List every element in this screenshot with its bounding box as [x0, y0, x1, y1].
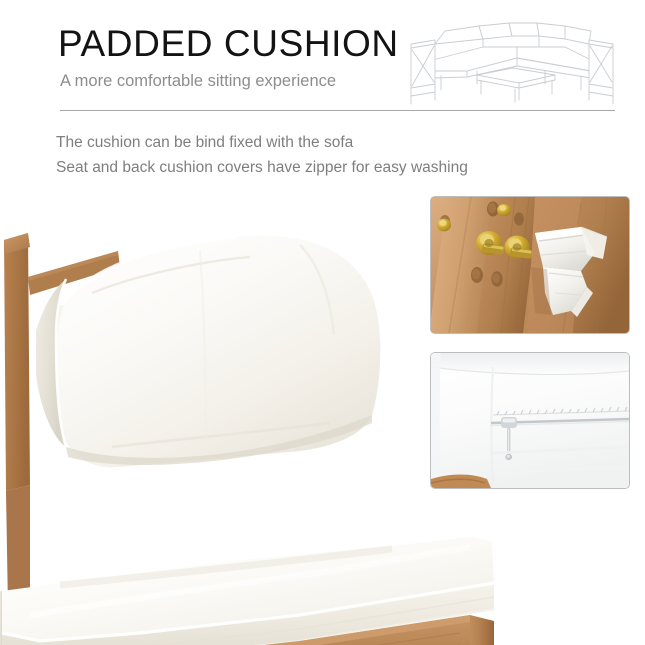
page-title: PADDED CUSHION: [58, 22, 399, 66]
brass-bolt: [497, 204, 511, 216]
feature-list: The cushion can be bind fixed with the s…: [56, 130, 576, 180]
page-subtitle: A more comfortable sitting experience: [60, 70, 336, 92]
header-divider: [60, 110, 615, 111]
padded-cushion-on-sofa-photo: [0, 185, 500, 645]
sectional-sofa-lineart-icon: [405, 14, 615, 106]
feature-line-1: The cushion can be bind fixed with the s…: [56, 130, 576, 155]
hardware-strap-detail-panel: [430, 196, 630, 334]
brass-bolt: [437, 219, 451, 232]
zipper-cover-detail-panel: [430, 352, 630, 489]
feature-line-2: Seat and back cushion covers have zipper…: [56, 155, 576, 180]
header-block: PADDED CUSHION A more comfortable sittin…: [0, 0, 645, 185]
